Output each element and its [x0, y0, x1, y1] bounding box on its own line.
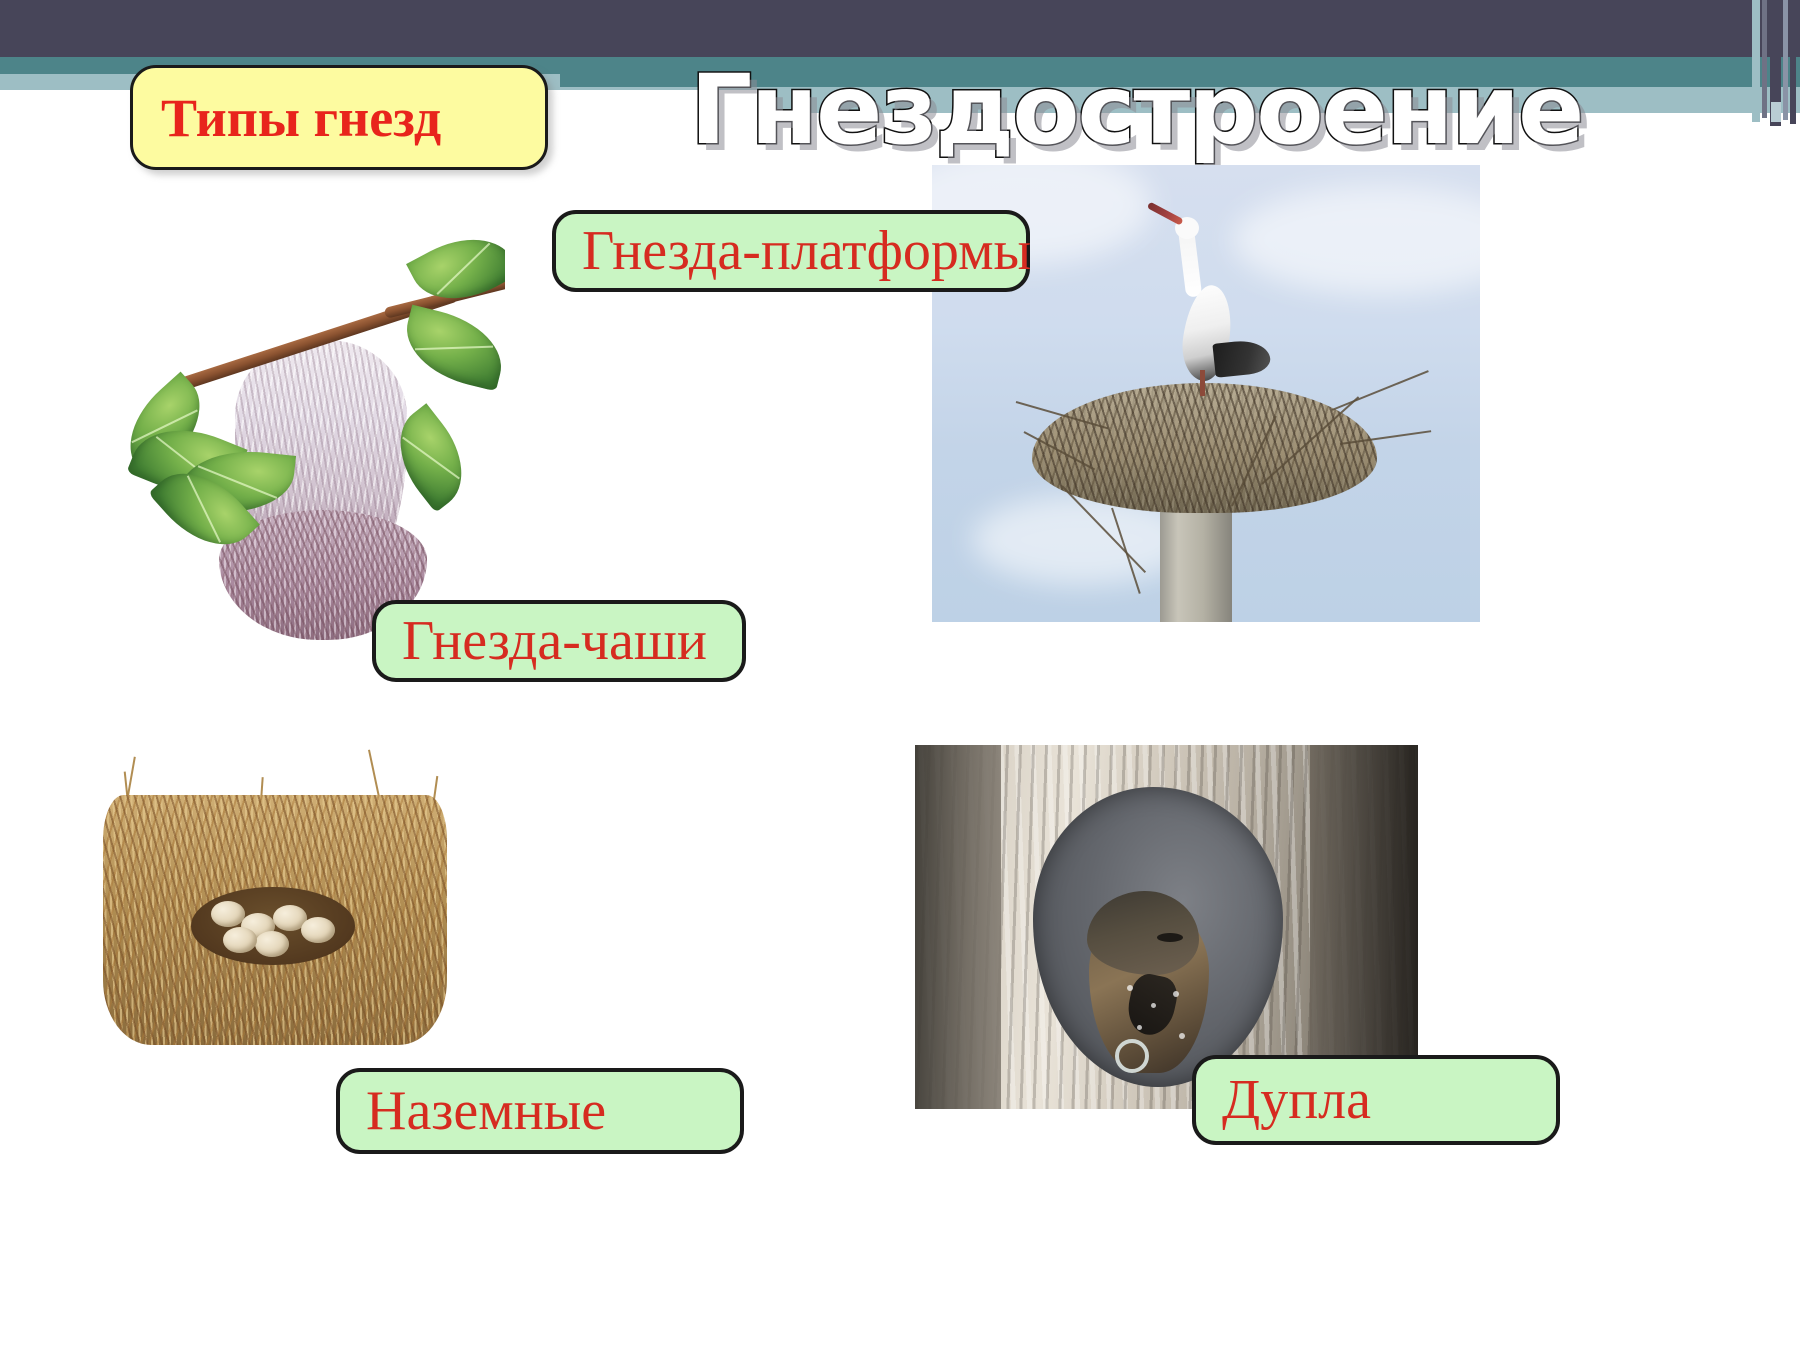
label-hollow-nests-text: Дупла	[1222, 1068, 1371, 1132]
bird-leg-ring	[1115, 1039, 1149, 1073]
egg	[223, 927, 257, 953]
label-ground-nests-text: Наземные	[366, 1079, 606, 1143]
hanging-pouch-nest-illustration	[85, 210, 505, 650]
label-platform-nests-text: Гнезда-платформы	[582, 219, 1031, 283]
nest-twig	[1332, 370, 1429, 411]
egg	[211, 901, 245, 927]
owl-plumage-speck	[1179, 1033, 1185, 1039]
label-cup-nests-text: Гнезда-чаши	[402, 609, 707, 673]
owl-plumage-speck	[1151, 1003, 1156, 1008]
label-hollow-nests: Дупла	[1192, 1055, 1560, 1145]
header-band-dark	[0, 0, 1800, 57]
bark-shadow-left	[915, 745, 1001, 1109]
stick-nest-mass	[1032, 383, 1377, 513]
owl-plumage-speck	[1127, 985, 1133, 991]
owl-eye	[1157, 933, 1183, 942]
ground-nest-illustration	[95, 725, 455, 1055]
label-platform-nests: Гнезда-платформы	[552, 210, 1030, 292]
owl-plumage-speck	[1137, 1025, 1142, 1030]
presentation-slide: Гнездостроение Типы гнезд	[0, 0, 1800, 1350]
label-cup-nests: Гнезда-чаши	[372, 600, 746, 682]
slide-title: Гнездостроение	[690, 58, 1800, 162]
stork-tail	[1212, 338, 1271, 378]
label-ground-nests: Наземные	[336, 1068, 744, 1154]
cloud-shape	[1232, 185, 1480, 295]
topic-callout-box: Типы гнезд	[130, 65, 548, 170]
owl-head	[1087, 891, 1199, 975]
stork-beak	[1147, 202, 1184, 226]
egg	[255, 931, 289, 957]
egg	[301, 917, 335, 943]
owl-plumage-speck	[1173, 991, 1179, 997]
stork-legs	[1200, 370, 1205, 396]
topic-callout-label: Типы гнезд	[161, 87, 441, 149]
leaf-icon	[397, 305, 505, 392]
